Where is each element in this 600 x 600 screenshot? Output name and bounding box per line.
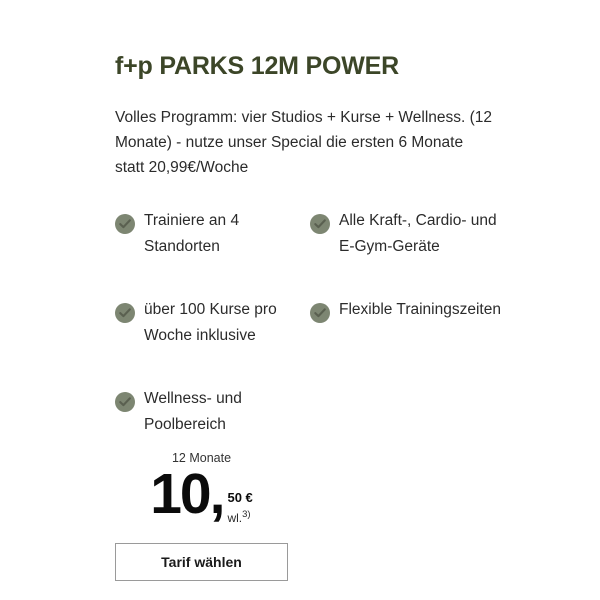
price-detail: 50 € wl.3) — [227, 468, 252, 525]
check-circle-icon — [310, 214, 330, 234]
page-title: f+p PARKS 12M POWER — [115, 52, 399, 81]
list-item-label: Alle Kraft-, Cardio- und E-Gym-Geräte — [339, 208, 505, 260]
tariff-description: Volles Programm: vier Studios + Kurse + … — [115, 105, 495, 180]
list-item-label: Trainiere an 4 Standorten — [144, 208, 310, 260]
select-tariff-button[interactable]: Tarif wählen — [115, 543, 288, 581]
list-item: Flexible Trainingszeiten — [310, 300, 505, 389]
check-circle-icon — [115, 392, 135, 412]
list-item-label: Flexible Trainingszeiten — [339, 297, 501, 323]
list-item: über 100 Kurse pro Woche inklusive — [115, 300, 310, 389]
price-block: 12 Monate 10, 50 € wl.3) — [115, 450, 288, 525]
check-circle-icon — [115, 303, 135, 323]
list-item: Trainiere an 4 Standorten — [115, 211, 310, 300]
check-circle-icon — [310, 303, 330, 323]
price-cents: 50 € — [227, 490, 252, 505]
feature-list: Trainiere an 4 Standorten Alle Kraft-, C… — [115, 211, 505, 478]
price-unit-label: wl. — [227, 511, 242, 525]
list-item-label: über 100 Kurse pro Woche inklusive — [144, 297, 310, 349]
list-item-label: Wellness- und Poolbereich — [144, 386, 310, 438]
check-circle-icon — [115, 214, 135, 234]
price-footnote-marker: 3) — [242, 509, 250, 520]
price-unit: wl.3) — [227, 508, 252, 525]
price-amount: 10, — [150, 468, 223, 520]
price-row: 10, 50 € wl.3) — [115, 468, 288, 525]
list-item: Alle Kraft-, Cardio- und E-Gym-Geräte — [310, 211, 505, 300]
tariff-card: f+p PARKS 12M POWER Volles Programm: vie… — [0, 0, 600, 600]
